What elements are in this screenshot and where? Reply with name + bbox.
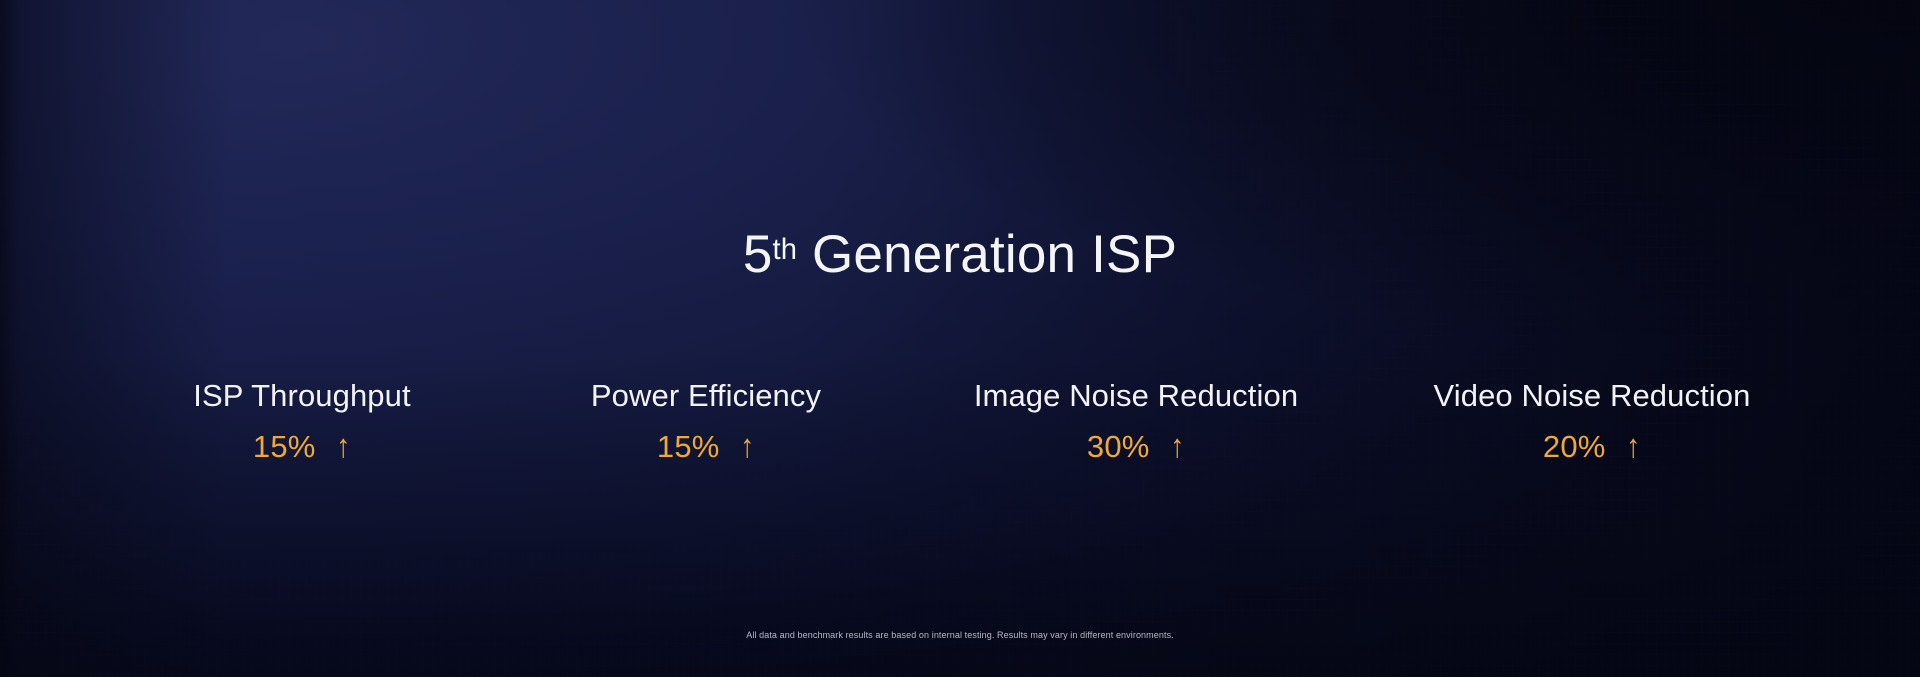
metric-value-row: 20% ↑ xyxy=(1364,430,1820,463)
presentation-slide: 5th Generation ISP ISP Throughput 15% ↑ … xyxy=(0,0,1920,677)
metric-value: 15% xyxy=(253,431,316,462)
metric-value-row: 15% ↑ xyxy=(100,430,504,463)
metric-value: 20% xyxy=(1543,431,1606,462)
metric-value-row: 30% ↑ xyxy=(908,430,1364,463)
metric-label: Power Efficiency xyxy=(504,380,908,413)
metric-image-noise-reduction: Image Noise Reduction 30% ↑ xyxy=(908,380,1364,463)
metric-isp-throughput: ISP Throughput 15% ↑ xyxy=(100,380,504,463)
metric-value: 30% xyxy=(1087,431,1150,462)
metric-label: ISP Throughput xyxy=(100,380,504,413)
slide-content: 5th Generation ISP ISP Throughput 15% ↑ … xyxy=(0,0,1920,677)
slide-title: 5th Generation ISP xyxy=(0,228,1920,281)
metrics-row: ISP Throughput 15% ↑ Power Efficiency 15… xyxy=(0,380,1920,463)
slide-title-ordinal-suffix: th xyxy=(773,234,798,266)
metric-power-efficiency: Power Efficiency 15% ↑ xyxy=(504,380,908,463)
metric-value-row: 15% ↑ xyxy=(504,430,908,463)
metric-label: Image Noise Reduction xyxy=(908,380,1364,413)
slide-title-number: 5 xyxy=(743,225,773,284)
disclaimer-text: All data and benchmark results are based… xyxy=(0,630,1920,640)
metric-value: 15% xyxy=(657,431,720,462)
arrow-up-icon: ↑ xyxy=(1626,429,1640,462)
arrow-up-icon: ↑ xyxy=(740,429,754,462)
arrow-up-icon: ↑ xyxy=(336,429,350,462)
slide-title-rest: Generation ISP xyxy=(797,225,1177,284)
arrow-up-icon: ↑ xyxy=(1170,429,1184,462)
metric-video-noise-reduction: Video Noise Reduction 20% ↑ xyxy=(1364,380,1820,463)
metric-label: Video Noise Reduction xyxy=(1364,380,1820,413)
